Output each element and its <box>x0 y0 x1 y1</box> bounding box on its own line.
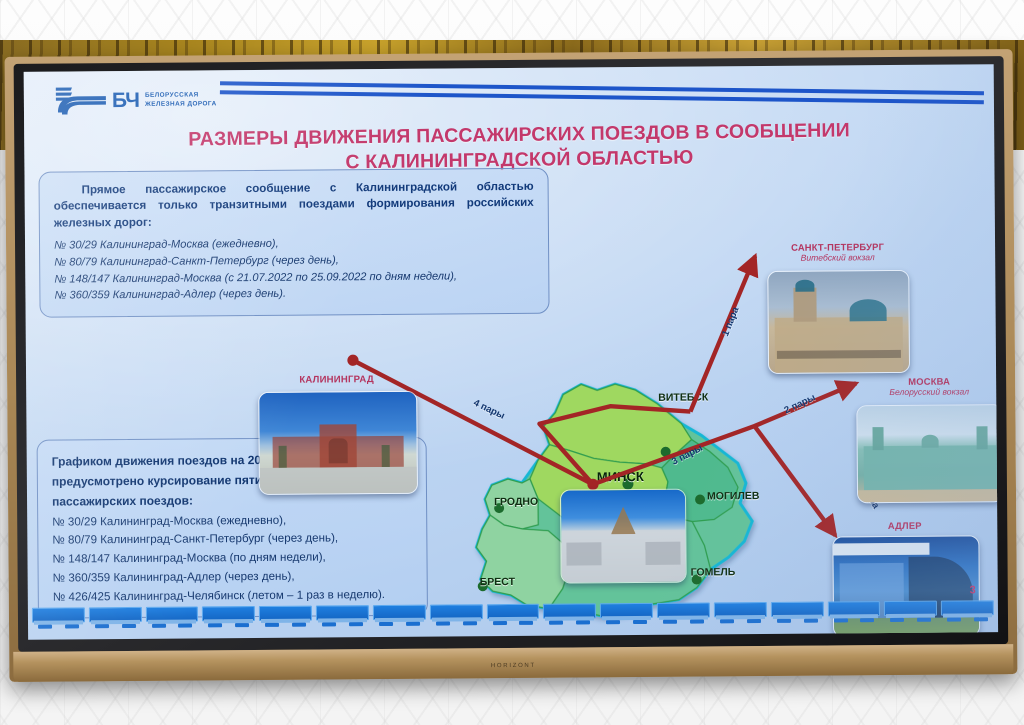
bch-logo-mark <box>56 85 108 115</box>
photo-caption-saint-petersburg: САНКТ-ПЕТЕРБУРГ Витебский вокзал <box>765 241 910 263</box>
train-wagon <box>771 602 824 622</box>
train-wagon <box>714 602 767 622</box>
info-panel-direct-service: Прямое пассажирское сообщение с Калининг… <box>38 168 549 318</box>
train-wagon <box>657 602 710 622</box>
logo-wordmark: БЕЛОРУССКАЯ ЖЕЛЕЗНАЯ ДОРОГА <box>145 90 217 109</box>
photo-vitebsky-station <box>767 270 910 374</box>
photo-caption-adler-city: АДЛЕР <box>832 519 977 531</box>
train-wagon <box>202 606 255 626</box>
train-wagon <box>373 605 426 625</box>
panel-top-item-3: № 360/359 Калининград-Адлер (через день)… <box>54 284 534 304</box>
map-city-label-mogilev: МОГИЛЕВ <box>707 490 759 502</box>
photo-caption-spb-station: Витебский вокзал <box>765 252 910 263</box>
map-city-label-gomel: ГОМЕЛЬ <box>691 566 736 578</box>
train-wagon <box>259 606 312 626</box>
train-wagon <box>316 605 369 625</box>
train-wagon <box>941 600 994 620</box>
train-wagon <box>827 601 880 621</box>
photo-kaliningrad-station <box>258 391 418 495</box>
television: HORIZONT БЧ БЕЛОРУССКАЯ ЖЕЛЕЗНАЯ Д <box>5 49 1018 682</box>
logo-abbreviation: БЧ <box>112 89 139 110</box>
map-city-label-minsk: МИНСК <box>597 469 644 484</box>
map-city-label-grodno: ГРОДНО <box>494 496 538 508</box>
map-city-label-brest: БРЕСТ <box>480 576 515 588</box>
panel-bottom-item-4: № 426/425 Калининград-Челябинск (летом –… <box>53 586 413 608</box>
logo-word-line2: ЖЕЛЕЗНАЯ ДОРОГА <box>145 99 217 109</box>
header-decorative-stripes <box>220 80 984 112</box>
photo-caption-moscow: МОСКВА Белорусский вокзал <box>854 375 998 397</box>
map-city-label-vitebsk: ВИТЕБСК <box>658 391 708 403</box>
train-wagon <box>543 603 596 623</box>
photo-belorussky-station <box>856 404 998 503</box>
train-wagon <box>486 604 539 624</box>
train-wagon <box>32 607 85 627</box>
photo-minsk-station <box>560 489 687 584</box>
logo-word-line1: БЕЛОРУССКАЯ <box>145 90 217 100</box>
train-wagon <box>146 606 199 626</box>
photo-caption-kaliningrad: КАЛИНИНГРАД <box>258 374 415 386</box>
brand-logo: БЧ БЕЛОРУССКАЯ ЖЕЛЕЗНАЯ ДОРОГА <box>56 84 217 115</box>
train-wagon <box>600 603 653 623</box>
train-wagon <box>430 604 483 624</box>
photo-caption-kaliningrad-city: КАЛИНИНГРАД <box>258 374 415 386</box>
presentation-slide: БЧ БЕЛОРУССКАЯ ЖЕЛЕЗНАЯ ДОРОГА РАЗМЕРЫ Д… <box>24 64 998 640</box>
photo-caption-moscow-station: Белорусский вокзал <box>854 386 998 397</box>
train-wagon <box>884 601 937 621</box>
slide-page-number: 3 <box>970 584 976 596</box>
tv-brand-label: HORIZONT <box>491 663 536 669</box>
panel-top-lead: Прямое пассажирское сообщение с Калининг… <box>54 179 534 232</box>
belarus-map <box>451 331 798 640</box>
train-wagon <box>89 607 142 627</box>
photo-caption-adler: АДЛЕР <box>832 519 977 531</box>
